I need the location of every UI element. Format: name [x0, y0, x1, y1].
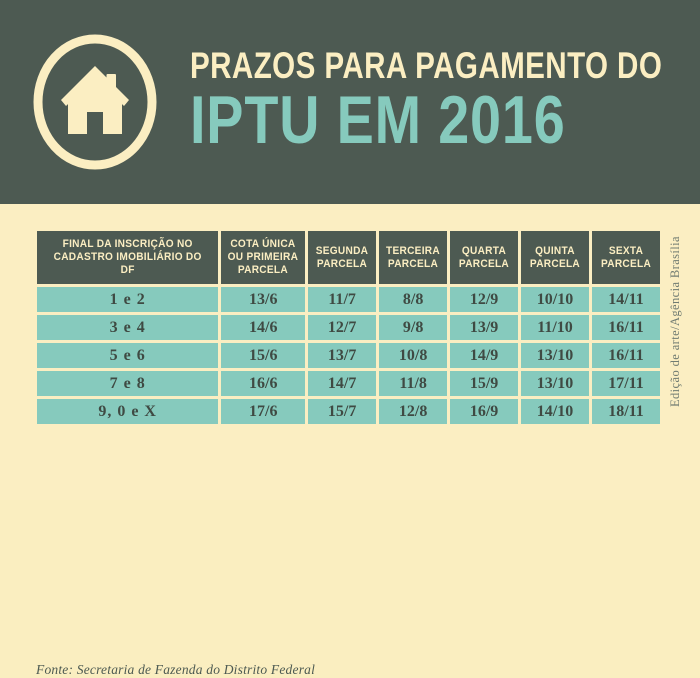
- cell-segunda: 12/7: [308, 315, 376, 340]
- column-header-final-inscricao: FINAL DA INSCRIÇÃO NO CADASTRO IMOBILIÁR…: [37, 231, 218, 284]
- cell-terceira: 8/8: [379, 287, 447, 312]
- column-header-label: SEXTA PARCELA: [597, 245, 654, 271]
- cell-segunda: 15/7: [308, 399, 376, 424]
- table-row: 1 e 2 13/6 11/7 8/8 12/9 10/10 14/11: [37, 287, 660, 312]
- cell-sexta: 17/11: [592, 371, 660, 396]
- cell-quinta: 14/10: [521, 399, 589, 424]
- row-label: 7 e 8: [37, 371, 218, 396]
- table-row: 9, 0 e X 17/6 15/7 12/8 16/9 14/10 18/11: [37, 399, 660, 424]
- cell-terceira: 12/8: [379, 399, 447, 424]
- cell-sexta: 14/11: [592, 287, 660, 312]
- column-header-label: QUARTA PARCELA: [456, 245, 513, 271]
- table-section: FINAL DA INSCRIÇÃO NO CADASTRO IMOBILIÁR…: [0, 204, 700, 500]
- payment-schedule-table: FINAL DA INSCRIÇÃO NO CADASTRO IMOBILIÁR…: [34, 228, 663, 427]
- column-header-segunda-parcela: SEGUNDA PARCELA: [308, 231, 376, 284]
- cell-quarta: 14/9: [450, 343, 518, 368]
- column-header-label: COTA ÚNICA OU PRIMEIRA PARCELA: [227, 238, 299, 277]
- column-header-label: QUINTA PARCELA: [527, 245, 584, 271]
- row-label: 3 e 4: [37, 315, 218, 340]
- cell-quarta: 13/9: [450, 315, 518, 340]
- cell-quinta: 13/10: [521, 343, 589, 368]
- column-header-label: TERCEIRA PARCELA: [385, 245, 442, 271]
- column-header-quarta-parcela: QUARTA PARCELA: [450, 231, 518, 284]
- logo-container: [0, 0, 190, 204]
- cell-cota-unica: 17/6: [221, 399, 305, 424]
- title-line-2: IPTU EM 2016: [190, 87, 674, 153]
- table-row: 5 e 6 15/6 13/7 10/8 14/9 13/10 16/11: [37, 343, 660, 368]
- row-label: 5 e 6: [37, 343, 218, 368]
- credit-container: Edição de arte/Agência Brasília: [668, 236, 694, 466]
- cell-segunda: 14/7: [308, 371, 376, 396]
- table-row: 7 e 8 16/6 14/7 11/8 15/9 13/10 17/11: [37, 371, 660, 396]
- cell-quinta: 10/10: [521, 287, 589, 312]
- cell-cota-unica: 13/6: [221, 287, 305, 312]
- cell-cota-unica: 16/6: [221, 371, 305, 396]
- infographic-poster: PRAZOS PARA PAGAMENTO DO IPTU EM 2016 FI…: [0, 0, 700, 500]
- table-row: 3 e 4 14/6 12/7 9/8 13/9 11/10 16/11: [37, 315, 660, 340]
- column-header-label: SEGUNDA PARCELA: [314, 245, 371, 271]
- cell-sexta: 16/11: [592, 315, 660, 340]
- header-banner: PRAZOS PARA PAGAMENTO DO IPTU EM 2016: [0, 0, 700, 204]
- table-body: 1 e 2 13/6 11/7 8/8 12/9 10/10 14/11 3 e…: [37, 287, 660, 424]
- cell-cota-unica: 14/6: [221, 315, 305, 340]
- column-header-label: FINAL DA INSCRIÇÃO NO CADASTRO IMOBILIÁR…: [47, 238, 208, 277]
- column-header-quinta-parcela: QUINTA PARCELA: [521, 231, 589, 284]
- title-block: PRAZOS PARA PAGAMENTO DO IPTU EM 2016: [190, 47, 700, 153]
- cell-sexta: 16/11: [592, 343, 660, 368]
- cell-terceira: 9/8: [379, 315, 447, 340]
- cell-terceira: 10/8: [379, 343, 447, 368]
- cell-quinta: 11/10: [521, 315, 589, 340]
- row-label: 1 e 2: [37, 287, 218, 312]
- cell-terceira: 11/8: [379, 371, 447, 396]
- column-header-sexta-parcela: SEXTA PARCELA: [592, 231, 660, 284]
- cell-segunda: 13/7: [308, 343, 376, 368]
- column-header-cota-unica: COTA ÚNICA OU PRIMEIRA PARCELA: [221, 231, 305, 284]
- row-label: 9, 0 e X: [37, 399, 218, 424]
- house-in-circle-icon: [29, 30, 161, 174]
- cell-segunda: 11/7: [308, 287, 376, 312]
- table-header-row: FINAL DA INSCRIÇÃO NO CADASTRO IMOBILIÁR…: [37, 231, 660, 284]
- cell-quarta: 15/9: [450, 371, 518, 396]
- column-header-terceira-parcela: TERCEIRA PARCELA: [379, 231, 447, 284]
- source-note: Fonte: Secretaria de Fazenda do Distrito…: [36, 662, 315, 678]
- cell-quarta: 12/9: [450, 287, 518, 312]
- cell-sexta: 18/11: [592, 399, 660, 424]
- art-credit: Edição de arte/Agência Brasília: [668, 236, 683, 407]
- cell-cota-unica: 15/6: [221, 343, 305, 368]
- title-line-1: PRAZOS PARA PAGAMENTO DO: [190, 47, 662, 85]
- cell-quarta: 16/9: [450, 399, 518, 424]
- cell-quinta: 13/10: [521, 371, 589, 396]
